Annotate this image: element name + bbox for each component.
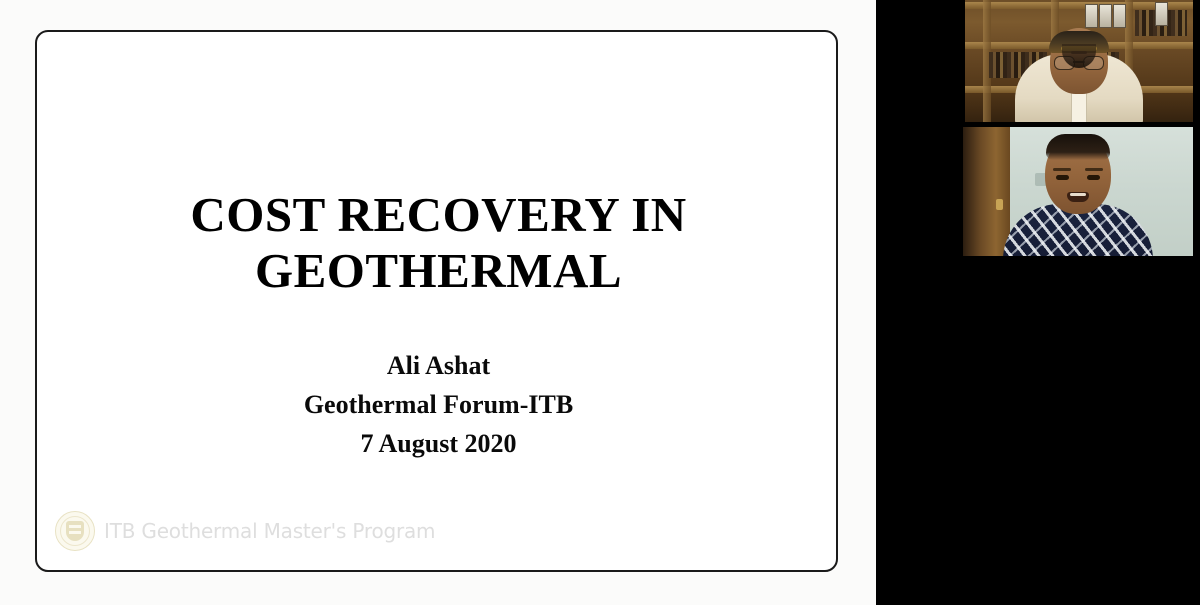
participant-video-tile-1[interactable] [965, 0, 1193, 122]
slide-title-line-2: GEOTHERMAL [97, 243, 780, 299]
itb-geothermal-seal-icon [55, 511, 95, 551]
slide-title-line-1: COST RECOVERY IN [97, 187, 780, 243]
slide-footer: ITB Geothermal Master's Program [55, 504, 435, 558]
participant-filmstrip [876, 0, 1200, 605]
slide-footer-label: ITB Geothermal Master's Program [104, 519, 435, 543]
presentation-slide[interactable]: COST RECOVERY IN GEOTHERMAL Ali Ashat Ge… [35, 30, 838, 572]
participant-video-2 [963, 127, 1193, 256]
participant-video-1 [965, 0, 1193, 122]
slide-title: COST RECOVERY IN GEOTHERMAL [97, 187, 780, 299]
participant-video-tile-2[interactable] [963, 127, 1193, 256]
slide-presenter-name: Ali Ashat [97, 346, 780, 385]
participant-1-head [1050, 28, 1108, 94]
slide-affiliation: Geothermal Forum-ITB [97, 385, 780, 424]
participant-2-head [1045, 134, 1111, 214]
slide-subtitle-block: Ali Ashat Geothermal Forum-ITB 7 August … [97, 346, 780, 463]
meeting-screen: COST RECOVERY IN GEOTHERMAL Ali Ashat Ge… [0, 0, 1200, 605]
door-background [963, 127, 1010, 256]
slide-date: 7 August 2020 [97, 424, 780, 463]
screen-share-region[interactable]: COST RECOVERY IN GEOTHERMAL Ali Ashat Ge… [0, 0, 876, 605]
